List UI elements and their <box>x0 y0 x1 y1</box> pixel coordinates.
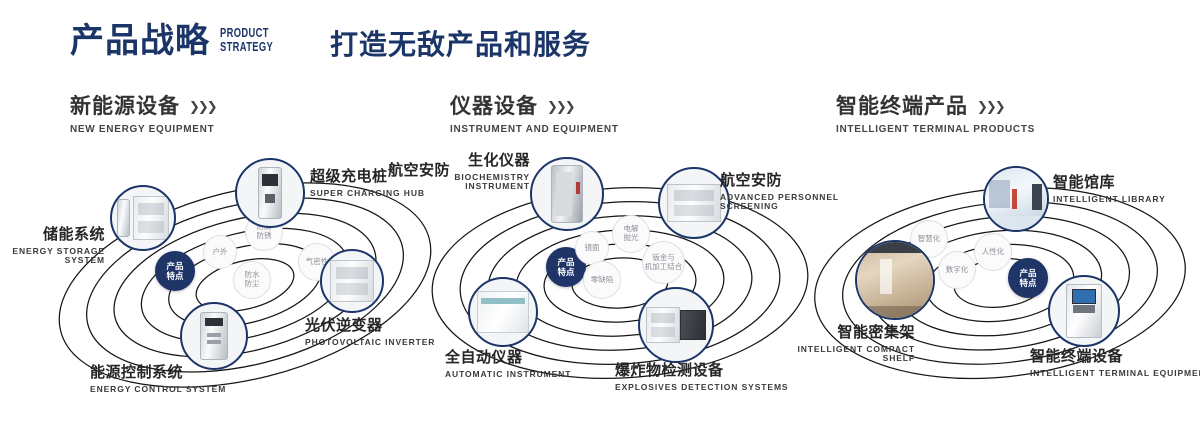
product-photo-explosives-detection <box>640 289 712 361</box>
section-title-en: INSTRUMENT AND EQUIPMENT <box>450 124 619 135</box>
section-title-en: INTELLIGENT TERMINAL PRODUCTS <box>836 124 1035 135</box>
page-title: 产品战略 <box>70 24 210 58</box>
product-node-intelligent-library[interactable] <box>983 166 1049 232</box>
product-name-cn: 智能馆库 <box>1053 175 1166 192</box>
product-caption-intelligent-library: 智能馆库 INTELLIGENT LIBRARY <box>1053 175 1166 204</box>
product-name-en: PHOTOVOLTAIC INVERTER <box>305 338 435 347</box>
feature-bubble-digital: 数字化 <box>938 251 976 289</box>
product-photo-energy-storage <box>112 187 174 249</box>
core-bubble: 产品 特点 <box>1008 258 1048 298</box>
product-name-cn: 储能系统 <box>0 227 105 244</box>
product-name-cn: 爆炸物检测设备 <box>615 363 789 380</box>
product-name-cn: 光伏逆变器 <box>305 318 435 335</box>
product-caption-photovoltaic-inverter: 光伏逆变器 PHOTOVOLTAIC INVERTER <box>305 318 435 347</box>
product-name-en: BIOCHEMISTRY INSTRUMENT <box>430 173 530 192</box>
product-name-en: ENERGY STORAGE SYSTEM <box>0 247 105 266</box>
section-title-cn: 智能终端产品 <box>836 96 968 117</box>
product-caption-intelligent-terminal-equipment: 智能终端设备 INTELLIGENT TERMINAL EQUIPMENT <box>1030 349 1200 378</box>
product-caption-explosives-detection: 爆炸物检测设备 EXPLOSIVES DETECTION SYSTEMS <box>615 363 789 392</box>
orbit-cluster-instrument: 产品 特点 镜面 电解 抛光 钣金与 机加工结合 零缺陷 航空安防 生化仪器 B… <box>420 165 820 415</box>
product-name-en: INTELLIGENT COMPACT SHELF <box>780 345 915 364</box>
product-name-en: AUTOMATIC INSTRUMENT <box>445 370 571 379</box>
product-name-en: INTELLIGENT TERMINAL EQUIPMENT <box>1030 369 1200 378</box>
section-heading-intelligent-terminal: 智能终端产品 ❯❯❯ INTELLIGENT TERMINAL PRODUCTS <box>836 96 1035 135</box>
product-photo-biochemistry-instrument <box>532 159 602 229</box>
feature-bubble-waterproof: 防水 防尘 <box>233 261 271 299</box>
page-subtitle: 打造无敌产品和服务 <box>330 31 591 59</box>
section-title-cn: 仪器设备 <box>450 96 538 117</box>
product-photo-automatic-instrument <box>470 279 536 345</box>
product-photo-super-charging-hub <box>237 160 303 226</box>
poster-header: 产品战略 PRODUCT STRATEGY <box>70 24 294 58</box>
product-photo-intelligent-library <box>985 168 1047 230</box>
product-caption-automatic-instrument: 全自动仪器 AUTOMATIC INSTRUMENT <box>445 350 571 379</box>
product-node-automatic-instrument[interactable] <box>468 277 538 347</box>
product-name-en: INTELLIGENT LIBRARY <box>1053 195 1166 204</box>
product-photo-energy-control-system <box>182 304 246 368</box>
product-node-intelligent-terminal-equipment[interactable] <box>1048 275 1120 347</box>
core-bubble: 产品 特点 <box>155 251 195 291</box>
product-caption-energy-storage: 储能系统 ENERGY STORAGE SYSTEM <box>0 227 105 265</box>
page-title-english: PRODUCT STRATEGY <box>220 26 273 54</box>
section-title-en: NEW ENERGY EQUIPMENT <box>70 124 216 135</box>
product-name-cn: 智能密集架 <box>780 325 915 342</box>
orbit-cluster-new-energy: 产品 特点 户外 防腐 防锈 气密性 防水 防尘 储能系统 ENERGY STO… <box>45 165 445 415</box>
chevron-right-icon: ❯❯❯ <box>189 100 216 113</box>
section-title-cn: 新能源设备 <box>70 96 180 117</box>
product-photo-intelligent-compact-shelf <box>857 242 933 318</box>
section-heading-instrument: 仪器设备 ❯❯❯ INSTRUMENT AND EQUIPMENT <box>450 96 619 135</box>
feature-bubble-zero-defect: 零缺陷 <box>583 261 621 299</box>
product-caption-biochemistry-instrument: 生化仪器 BIOCHEMISTRY INSTRUMENT <box>430 153 530 191</box>
feature-bubble-humanized: 人性化 <box>974 233 1012 271</box>
poster-canvas: 产品战略 PRODUCT STRATEGY 打造无敌产品和服务 新能源设备 ❯❯… <box>0 0 1200 422</box>
feature-bubble-outdoor: 户外 <box>203 235 237 269</box>
section-heading-new-energy: 新能源设备 ❯❯❯ NEW ENERGY EQUIPMENT <box>70 96 216 135</box>
chevron-right-icon: ❯❯❯ <box>547 100 574 113</box>
product-name-en: ENERGY CONTROL SYSTEM <box>90 385 226 394</box>
product-node-energy-storage[interactable] <box>110 185 176 251</box>
product-node-biochemistry-instrument[interactable] <box>530 157 604 231</box>
product-name-cn-alt: 生化仪器 <box>430 153 530 170</box>
product-name-en: EXPLOSIVES DETECTION SYSTEMS <box>615 383 789 392</box>
orbit-cluster-intelligent-terminal: 产品 特点 智慧化 数字化 人性化 智能馆库 INTELLIGENT LIBRA… <box>805 165 1200 415</box>
product-caption-intelligent-compact-shelf: 智能密集架 INTELLIGENT COMPACT SHELF <box>780 325 915 363</box>
feature-bubble-sheetmetal-machining: 钣金与 机加工结合 <box>642 241 685 284</box>
product-node-photovoltaic-inverter[interactable] <box>320 249 384 313</box>
product-photo-photovoltaic-inverter <box>322 251 382 311</box>
chevron-right-icon: ❯❯❯ <box>977 100 1004 113</box>
product-photo-advanced-personnel-screening <box>660 169 728 237</box>
product-node-explosives-detection[interactable] <box>638 287 714 363</box>
product-node-intelligent-compact-shelf[interactable] <box>855 240 935 320</box>
product-photo-intelligent-terminal-equipment <box>1050 277 1118 345</box>
product-node-energy-control-system[interactable] <box>180 302 248 370</box>
product-caption-energy-control-system: 能源控制系统 ENERGY CONTROL SYSTEM <box>90 365 226 394</box>
product-name-cn: 智能终端设备 <box>1030 349 1200 366</box>
product-name-en: SUPER CHARGING HUB <box>310 189 425 198</box>
feature-bubble-electropolishing: 电解 抛光 <box>612 215 650 253</box>
product-name-cn: 能源控制系统 <box>90 365 226 382</box>
product-name-cn: 全自动仪器 <box>445 350 571 367</box>
product-node-super-charging-hub[interactable] <box>235 158 305 228</box>
feature-bubble-mirror: 镜面 <box>575 231 609 265</box>
